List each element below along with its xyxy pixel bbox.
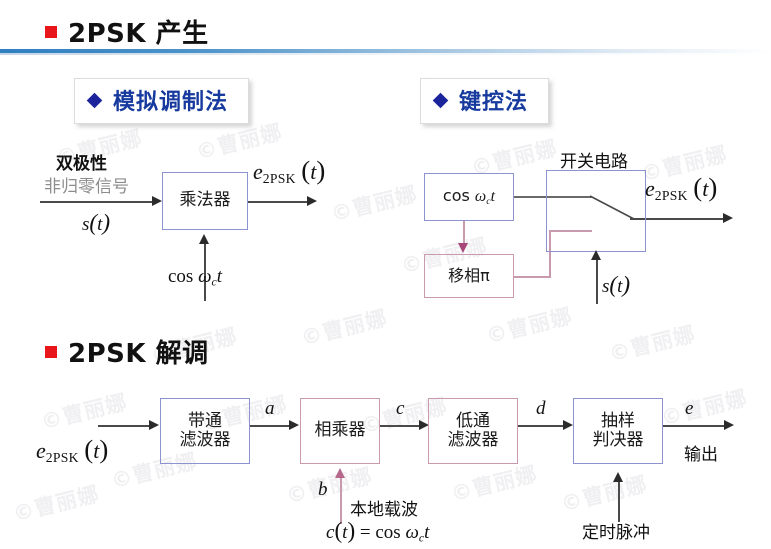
block-label-line2: 滤波器 bbox=[448, 431, 499, 450]
page-title: 2PSK 产生 bbox=[68, 13, 209, 50]
output-label: 输出 bbox=[684, 440, 718, 465]
block-phase-shifter: 移相π bbox=[424, 254, 514, 298]
block-label: cos ωct bbox=[443, 187, 495, 207]
watermark: ©曹丽娜 bbox=[558, 468, 651, 518]
arrowhead-into-multiplier bbox=[152, 196, 162, 206]
arrowhead-output-right bbox=[723, 213, 733, 223]
block-label-line1: 低通 bbox=[456, 412, 490, 431]
watermark: ©曹丽娜 bbox=[448, 458, 541, 508]
watermark: ©曹丽娜 bbox=[38, 386, 131, 436]
tap-label-a: a bbox=[265, 398, 275, 420]
tap-label-c: c bbox=[396, 398, 404, 420]
arrowhead-timing-pulse bbox=[613, 472, 623, 482]
slide-canvas: ©曹丽娜 ©曹丽娜 ©曹丽娜 ©曹丽娜 ©曹丽娜 ©曹丽娜 ©曹丽娜 ©曹丽娜 … bbox=[0, 0, 771, 549]
section-heading-demodulate: 2PSK 解调 bbox=[45, 333, 209, 370]
block-label-line1: 抽样 bbox=[601, 412, 635, 431]
wire-phase-out-h bbox=[514, 276, 551, 278]
page-title-2: 2PSK 解调 bbox=[68, 333, 209, 370]
output-symbol-e2psk-right: e2PSK (t) bbox=[645, 172, 717, 204]
subheading-keying: 键控法 bbox=[420, 78, 549, 124]
input-wire-left bbox=[40, 201, 155, 203]
subheading-label: 键控法 bbox=[459, 84, 528, 116]
tap-label-e: e bbox=[685, 398, 693, 420]
arrowhead-control-right bbox=[591, 250, 601, 260]
block-carrier-source: cos ωct bbox=[424, 173, 514, 221]
control-wire-right bbox=[596, 260, 598, 304]
section-heading-produce: 2PSK 产生 bbox=[45, 13, 209, 50]
block-label-line1: 带通 bbox=[188, 412, 222, 431]
arrowhead-into-bpf bbox=[149, 420, 159, 430]
wire-d bbox=[518, 425, 566, 427]
timing-pulse-label: 定时脉冲 bbox=[582, 518, 650, 543]
arrowhead-chain-output bbox=[724, 420, 734, 430]
arrowhead-output-left bbox=[307, 196, 317, 206]
watermark: ©曹丽娜 bbox=[606, 318, 699, 368]
red-square-bullet-icon bbox=[45, 346, 57, 358]
arrowhead-local-carrier bbox=[335, 468, 345, 478]
block-label: 乘法器 bbox=[180, 191, 231, 210]
arrowhead-carrier-left bbox=[199, 234, 209, 244]
block-bandpass-filter: 带通 滤波器 bbox=[160, 398, 250, 464]
local-carrier-formula: c(t) = cos ωct bbox=[326, 518, 429, 545]
blue-diamond-bullet-icon bbox=[87, 92, 103, 108]
watermark: ©曹丽娜 bbox=[10, 478, 103, 528]
arrowhead-into-mixer bbox=[289, 420, 299, 430]
watermark: ©曹丽娜 bbox=[298, 302, 391, 352]
input-label-nrz: 非归零信号 bbox=[44, 172, 129, 197]
arrowhead-into-phase-shifter bbox=[458, 243, 468, 253]
carrier-symbol-left: cos ωct bbox=[168, 266, 222, 289]
local-carrier-label: 本地载波 bbox=[350, 495, 418, 520]
output-wire-left bbox=[248, 201, 310, 203]
block-multiplier: 乘法器 bbox=[162, 172, 248, 230]
red-square-bullet-icon bbox=[45, 26, 57, 38]
block-label-line2: 滤波器 bbox=[180, 431, 231, 450]
tap-label-d: d bbox=[536, 398, 546, 420]
block-label: 移相π bbox=[448, 267, 490, 285]
subheading-label: 模拟调制法 bbox=[113, 84, 228, 116]
chain-input-wire bbox=[98, 425, 152, 427]
wire-c bbox=[380, 425, 422, 427]
block-label-line2: 判决器 bbox=[593, 431, 644, 450]
block-lowpass-filter: 低通 滤波器 bbox=[428, 398, 518, 464]
block-sampler-decision: 抽样 判决器 bbox=[573, 398, 663, 464]
wire-a bbox=[250, 425, 292, 427]
watermark: ©曹丽娜 bbox=[483, 300, 576, 350]
block-label: 相乘器 bbox=[315, 421, 366, 440]
subheading-analog-modulation: 模拟调制法 bbox=[74, 78, 249, 124]
input-symbol-st: s(t) bbox=[82, 210, 110, 237]
chain-output-wire bbox=[663, 425, 727, 427]
wire-timing-pulse bbox=[618, 482, 620, 522]
arrowhead-into-sampler bbox=[563, 420, 573, 430]
switch-circuit-title: 开关电路 bbox=[560, 147, 628, 172]
input-label-bipolar: 双极性 bbox=[56, 149, 107, 174]
block-mixer: 相乘器 bbox=[300, 398, 380, 464]
switch-blade-icon bbox=[588, 190, 640, 226]
control-symbol-st: s(t) bbox=[602, 272, 630, 299]
watermark: ©曹丽娜 bbox=[328, 178, 421, 228]
chain-input-symbol: e2PSK (t) bbox=[36, 434, 108, 466]
blue-diamond-bullet-icon bbox=[433, 92, 449, 108]
tap-label-b: b bbox=[318, 479, 328, 501]
output-symbol-e2psk: e2PSK (t) bbox=[253, 155, 325, 187]
